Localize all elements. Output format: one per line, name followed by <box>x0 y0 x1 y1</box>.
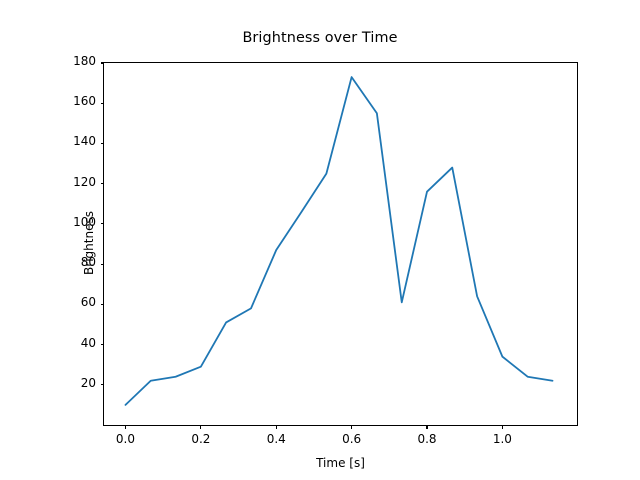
y-tick-label: 160 <box>73 94 96 108</box>
x-tick-mark <box>200 425 201 429</box>
y-tick-mark <box>101 384 105 385</box>
plot-area: 20406080100120140160180 0.00.20.40.60.81… <box>103 62 578 426</box>
y-tick-mark <box>101 103 105 104</box>
y-tick-mark <box>101 62 105 63</box>
x-tick-label: 0.6 <box>342 432 361 446</box>
y-tick-label: 140 <box>73 134 96 148</box>
y-tick-label: 120 <box>73 175 96 189</box>
y-tick-label: 60 <box>81 295 96 309</box>
y-tick-mark <box>101 223 105 224</box>
y-tick-mark <box>101 344 105 345</box>
x-tick-label: 0.4 <box>267 432 286 446</box>
x-tick-mark <box>125 425 126 429</box>
x-tick-mark <box>426 425 427 429</box>
y-axis-label: Brightness <box>82 211 96 275</box>
page-title: Brightness over Time <box>0 30 640 46</box>
matplotlib-figure: Brightness over Time 2040608010012014016… <box>0 0 640 480</box>
x-tick-mark <box>351 425 352 429</box>
line-series-brightness <box>125 77 552 405</box>
x-tick-label: 0.0 <box>116 432 135 446</box>
data-series-line <box>104 63 577 425</box>
y-tick-mark <box>101 264 105 265</box>
x-axis-label: Time [s] <box>104 456 577 470</box>
y-tick-mark <box>101 143 105 144</box>
x-tick-label: 0.2 <box>191 432 210 446</box>
y-tick-mark <box>101 183 105 184</box>
y-tick-label: 20 <box>81 376 96 390</box>
x-tick-mark <box>276 425 277 429</box>
y-tick-label: 40 <box>81 336 96 350</box>
y-tick-label: 180 <box>73 54 96 68</box>
x-tick-mark <box>502 425 503 429</box>
x-tick-label: 0.8 <box>417 432 436 446</box>
y-tick-mark <box>101 304 105 305</box>
x-tick-label: 1.0 <box>493 432 512 446</box>
